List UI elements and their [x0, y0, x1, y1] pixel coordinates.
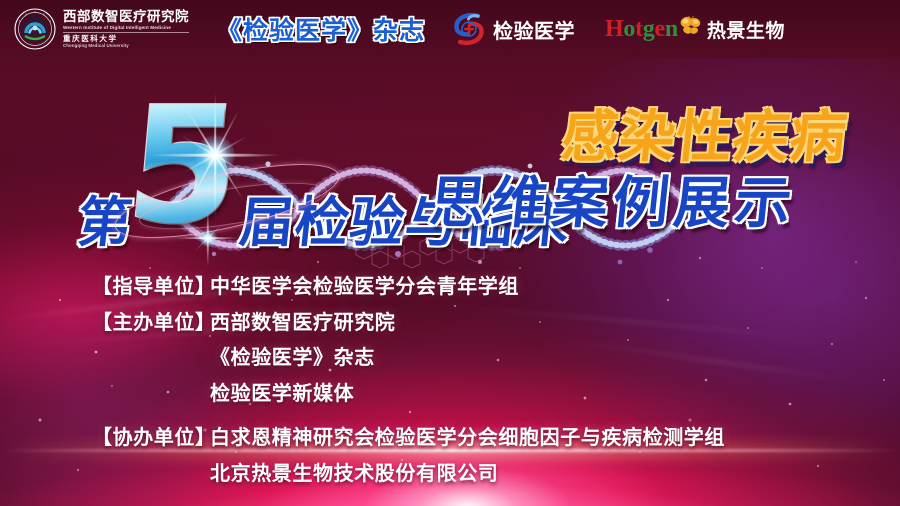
info-value: 西部数智医疗研究院 — [210, 308, 395, 337]
title-highlight: 感染性疾病 — [559, 110, 850, 166]
info-value: 北京热景生物技术股份有限公司 — [210, 459, 498, 488]
brand-name: 检验医学 — [493, 15, 575, 44]
info-label: 【协办单位】 — [92, 423, 210, 452]
conference-poster: 西部数智医疗研究院 Western Institute of Digital I… — [0, 0, 900, 506]
logo-laboratory-medicine-journal[interactable]: 《检验医学》杂志 — [217, 11, 425, 47]
logo-hotgen[interactable]: Hotgen — [605, 15, 785, 43]
hotgen-cn-name: 热景生物 — [707, 16, 785, 43]
info-row-guidance: 【指导单位】 中华医学会检验医学分会青年学组 — [92, 272, 852, 301]
title-line-2: 思维案例展示 — [427, 176, 799, 232]
info-row-coorganizer-extra: 北京热景生物技术股份有限公司 — [92, 459, 852, 488]
info-row-host-extra: 检验医学新媒体 — [92, 379, 852, 408]
info-label: 【主办单位】 — [92, 308, 210, 337]
info-value: 中华医学会检验医学分会青年学组 — [210, 272, 519, 301]
spacer — [92, 414, 852, 423]
circular-seal-icon — [14, 8, 56, 50]
sponsor-logo-bar: 西部数智医疗研究院 Western Institute of Digital I… — [0, 0, 900, 58]
logo-institute-en-name: Western Institute of Digital Intelligent… — [63, 25, 189, 31]
organizer-info-block: 【指导单位】 中华医学会检验医学分会青年学组 【主办单位】 西部数智医疗研究院 … — [92, 272, 852, 494]
hotgen-wordmark: Hotgen — [605, 16, 678, 43]
info-value: 《检验医学》杂志 — [210, 343, 375, 372]
logo-western-institute[interactable]: 西部数智医疗研究院 Western Institute of Digital I… — [14, 8, 189, 50]
logo-divider — [63, 32, 189, 33]
logo-university-cn-name: 重庆医科大学 — [63, 35, 189, 43]
info-row-coorganizer: 【协办单位】 白求恩精神研究会检验医学分会细胞因子与疾病检测学组 — [92, 423, 852, 452]
info-row-host: 【主办单位】 西部数智医疗研究院 — [92, 308, 852, 337]
logo-laboratory-medicine-brand[interactable]: 检验医学 — [451, 11, 575, 47]
info-value: 白求恩精神研究会检验医学分会细胞因子与疾病检测学组 — [210, 423, 725, 452]
logo-institute-cn-name: 西部数智医疗研究院 — [63, 10, 189, 24]
journal-title: 《检验医学》杂志 — [217, 11, 425, 47]
medical-cross-swoosh-icon — [451, 11, 487, 47]
butterfly-icon — [679, 15, 703, 37]
poster-title: 第 5 5 届检验与临床 感染性疾病 思维案例展示 — [0, 96, 900, 246]
logo-university-en-name: Chongqing Medical University — [63, 43, 189, 48]
info-row-host-extra: 《检验医学》杂志 — [92, 343, 852, 372]
info-label: 【指导单位】 — [92, 272, 210, 301]
info-value: 检验医学新媒体 — [210, 379, 354, 408]
